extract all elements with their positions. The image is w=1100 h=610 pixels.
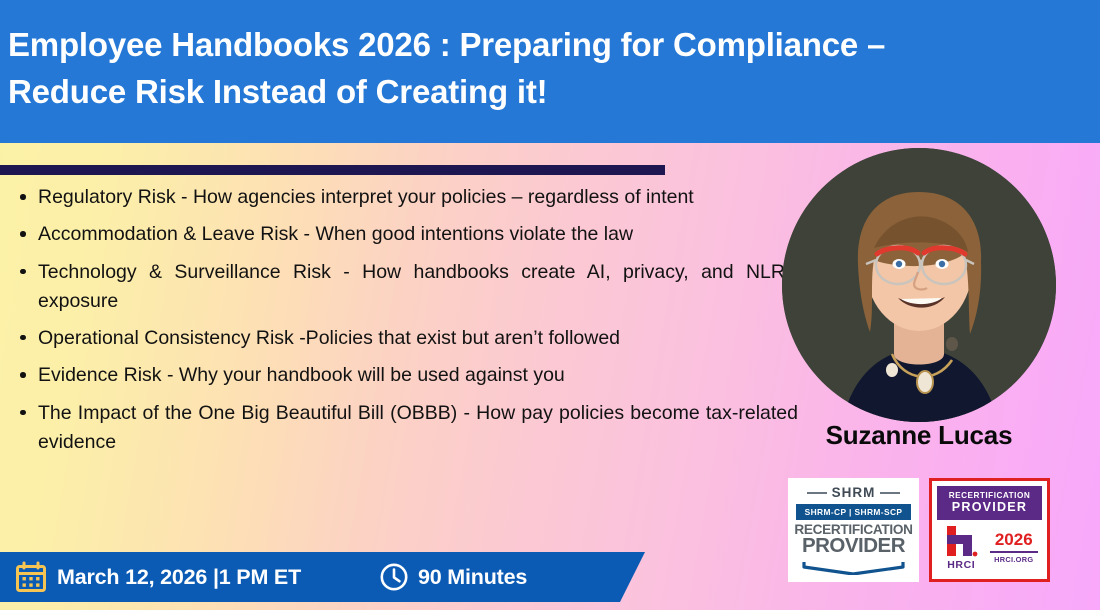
- navy-divider-rule: [0, 165, 665, 175]
- hrci-brand-label: HRCI: [937, 559, 985, 571]
- event-details-bar: March 12, 2026 |1 PM ET 90 Minutes: [0, 552, 645, 602]
- hrci-header-block: RECERTIFICATION PROVIDER: [937, 486, 1042, 520]
- shrm-brand-label: SHRM: [832, 485, 876, 500]
- hrci-provider-label: PROVIDER: [937, 500, 1042, 514]
- shrm-rule-left: [807, 492, 827, 494]
- page-title: Employee Handbooks 2026 : Preparing for …: [8, 22, 1078, 116]
- clock-icon: [379, 562, 409, 592]
- list-item: Accommodation & Leave Risk - When good i…: [38, 220, 798, 249]
- shrm-rule-right: [880, 492, 900, 494]
- event-duration-group: 90 Minutes: [379, 562, 527, 592]
- shrm-brand-row: SHRM: [794, 485, 913, 500]
- calendar-icon: [14, 560, 48, 594]
- hrci-h-logo-icon: [944, 524, 978, 558]
- credential-badges: SHRM SHRM-CP | SHRM-SCP RECERTIFICATION …: [788, 478, 1060, 582]
- shrm-credentials-label: SHRM-CP | SHRM-SCP: [796, 504, 911, 520]
- hrci-year-group: 2026 HRCI.ORG: [986, 524, 1042, 564]
- avatar: [782, 148, 1056, 422]
- hrci-recertification-provider-badge: RECERTIFICATION PROVIDER HRCI 2026 H: [929, 478, 1050, 582]
- list-item: Technology & Surveillance Risk - How han…: [38, 258, 798, 316]
- speaker-name: Suzanne Lucas: [782, 420, 1056, 451]
- shrm-recertification-provider-badge: SHRM SHRM-CP | SHRM-SCP RECERTIFICATION …: [788, 478, 919, 582]
- shrm-chevron-icon: [802, 561, 905, 575]
- speaker-headshot-illustration: [782, 148, 1056, 422]
- list-item: The Impact of the One Big Beautiful Bill…: [38, 399, 798, 457]
- shrm-provider-label: PROVIDER: [794, 536, 913, 557]
- hrci-divider: [990, 551, 1038, 553]
- list-item: Operational Consistency Risk -Policies t…: [38, 324, 798, 353]
- hrci-logo-group: HRCI: [937, 524, 985, 571]
- poster-header: Employee Handbooks 2026 : Preparing for …: [0, 0, 1100, 143]
- webinar-promo-poster: Employee Handbooks 2026 : Preparing for …: [0, 0, 1100, 610]
- hrci-recertification-label: RECERTIFICATION: [937, 491, 1042, 500]
- event-date-label: March 12, 2026 |1 PM ET: [57, 565, 301, 590]
- event-date-group: March 12, 2026 |1 PM ET: [14, 560, 301, 594]
- event-duration-label: 90 Minutes: [418, 565, 527, 590]
- list-item: Evidence Risk - Why your handbook will b…: [38, 361, 798, 390]
- hrci-logo-row: HRCI 2026 HRCI.ORG: [937, 524, 1042, 571]
- list-item: Regulatory Risk - How agencies interpret…: [38, 183, 798, 212]
- hrci-year-label: 2026: [986, 531, 1042, 548]
- hrci-site-label: HRCI.ORG: [986, 555, 1042, 564]
- topics-list: Regulatory Risk - How agencies interpret…: [12, 183, 798, 465]
